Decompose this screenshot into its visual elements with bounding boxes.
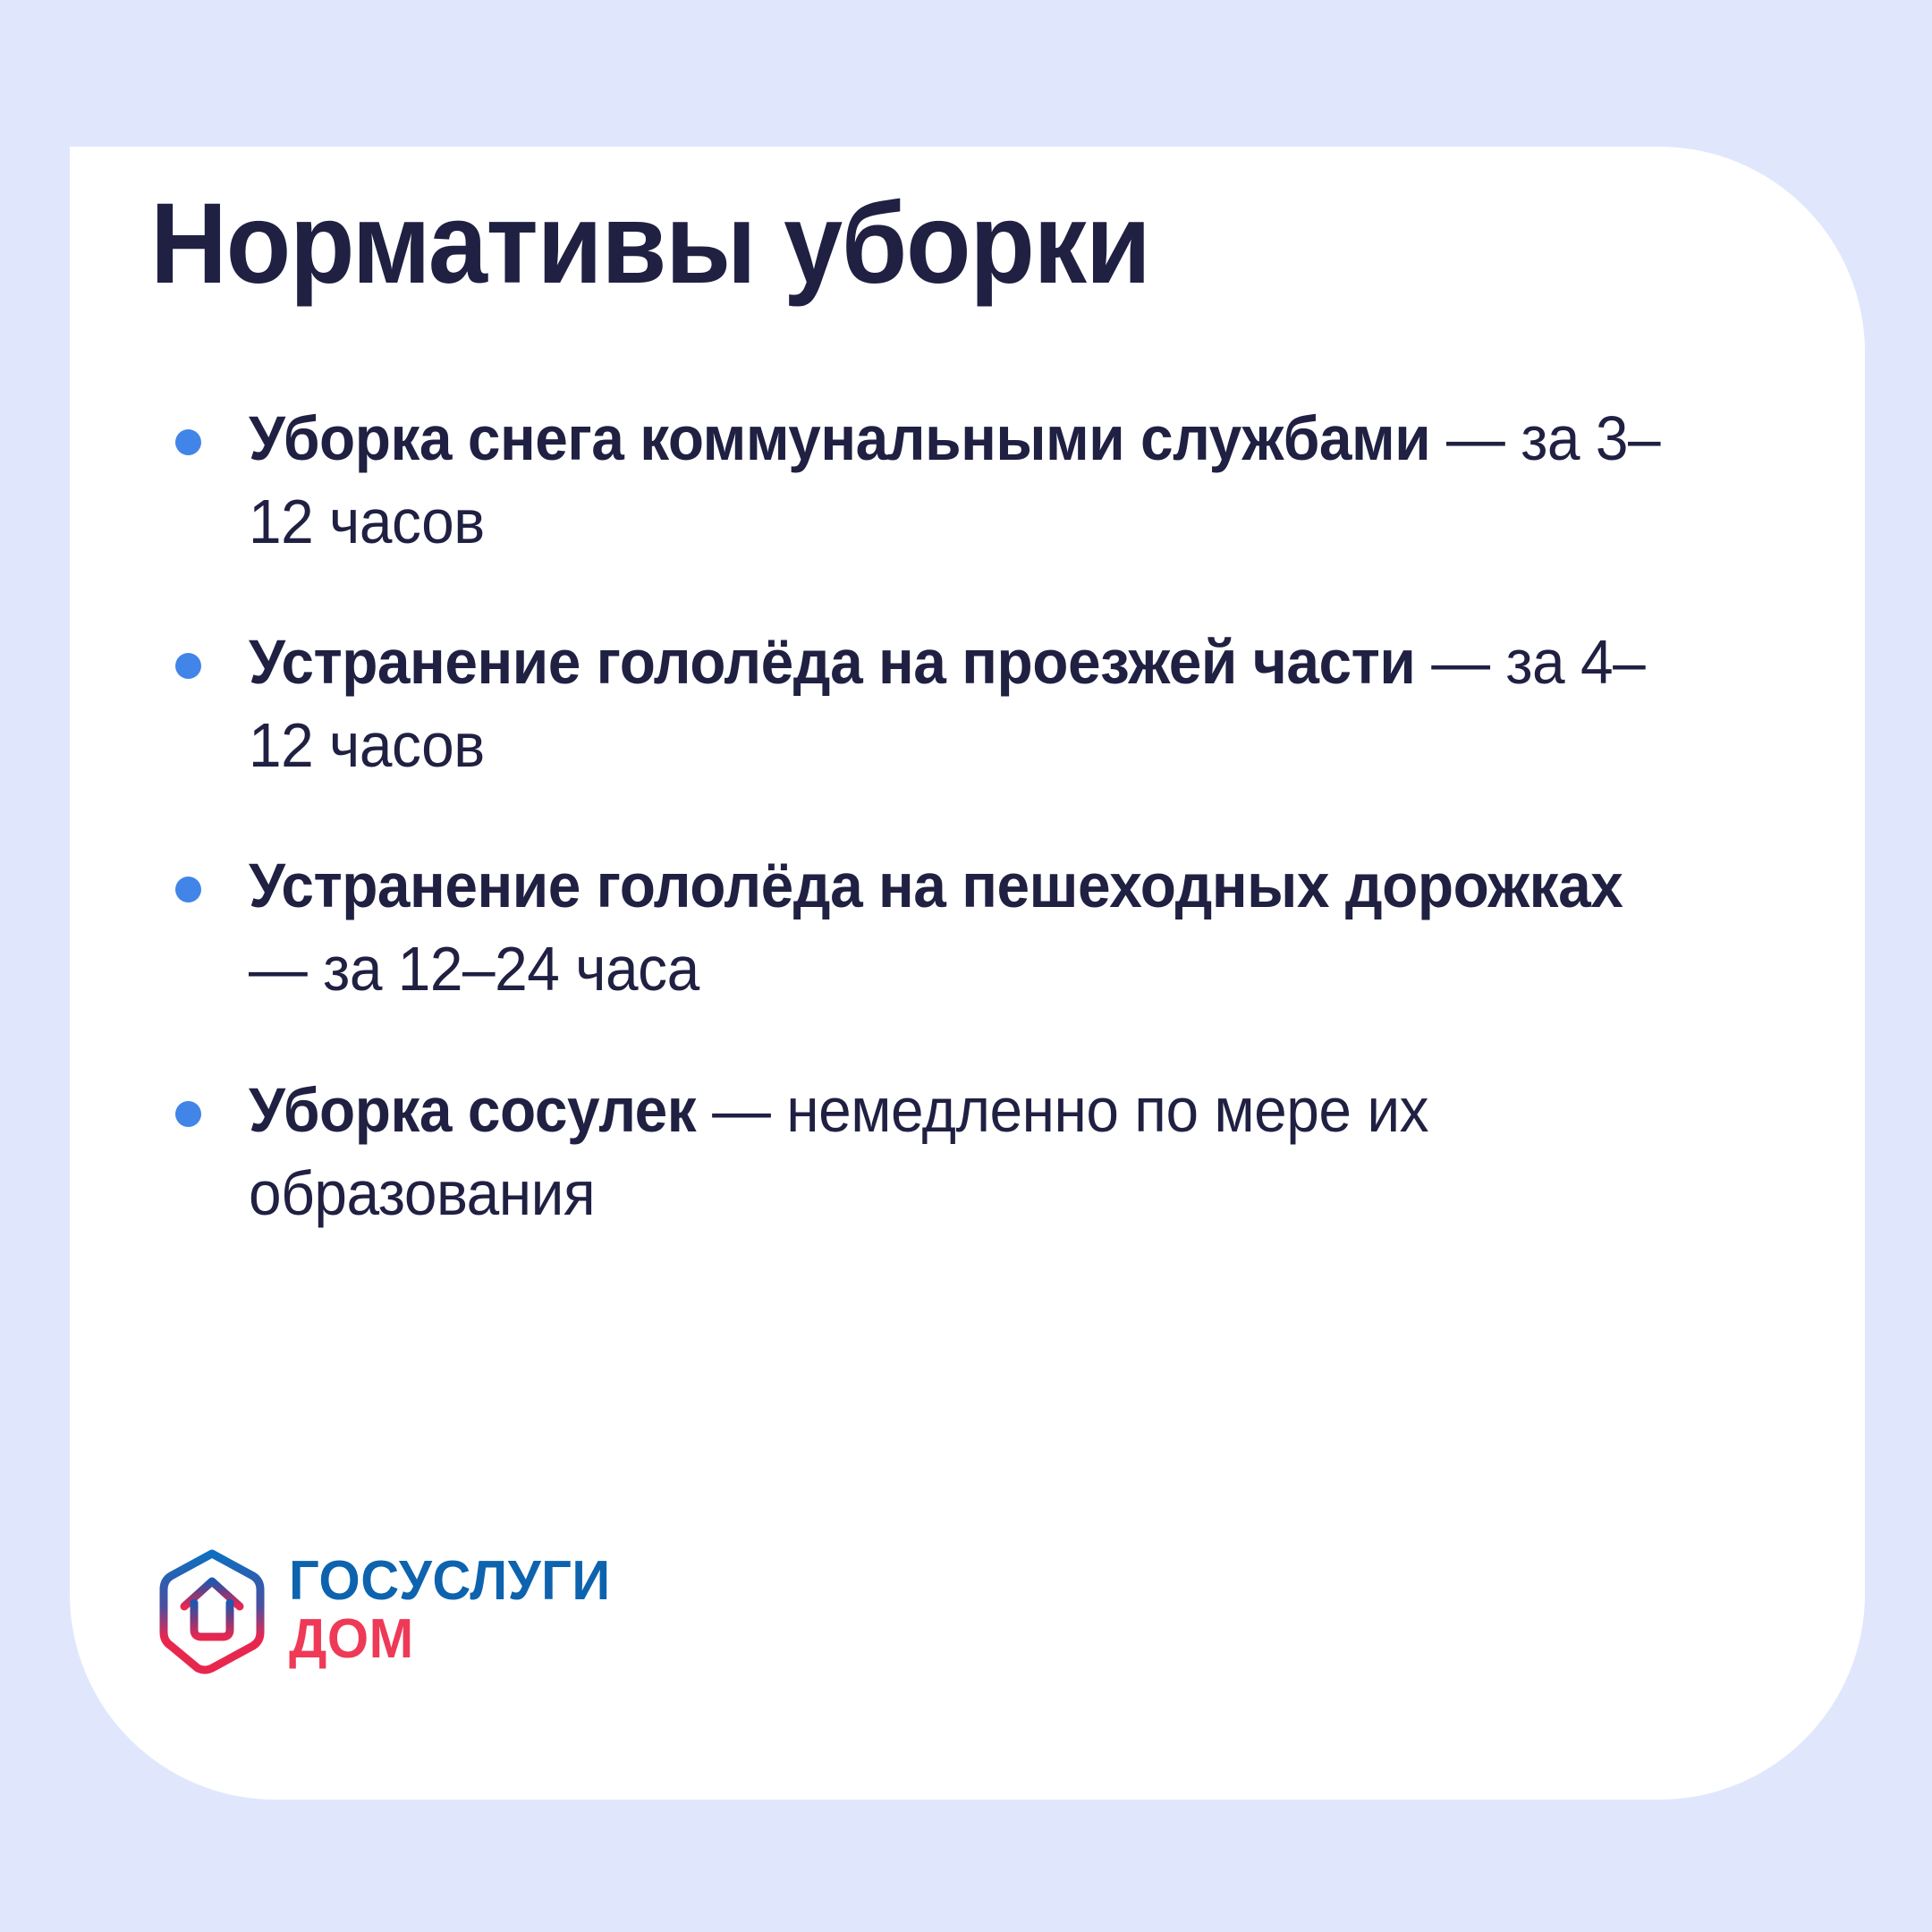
bullet-dot-icon — [175, 877, 201, 902]
list-item-lead: Устранение гололёда на проезжей части — [249, 627, 1415, 697]
poster-canvas: Нормативы уборки Уборка снега коммунальн… — [0, 0, 1932, 1932]
bullet-dot-icon — [175, 429, 201, 455]
list-item-text: Уборка сосулек — немедленно по мере их о… — [249, 1069, 1683, 1235]
brand-logo: ГОСУСЛУГИ ДОМ — [155, 1547, 624, 1674]
page-title: Нормативы уборки — [150, 187, 1150, 301]
list-item-rest: — за 12–24 часа — [249, 934, 699, 1004]
list-item: Устранение гололёда на проезжей части — … — [150, 621, 1689, 787]
list-item: Уборка сосулек — немедленно по мере их о… — [150, 1069, 1689, 1235]
logo-text-dom: ДОМ — [289, 1614, 611, 1666]
house-hexagon-icon — [155, 1547, 269, 1674]
bullet-dot-icon — [175, 653, 201, 679]
list-item-text: Устранение гололёда на пешеходных дорожк… — [249, 844, 1683, 1011]
list-item-lead: Уборка снега коммунальными службами — [249, 403, 1430, 473]
normatives-list: Уборка снега коммунальными службами — за… — [150, 397, 1689, 1235]
list-item: Устранение гололёда на пешеходных дорожк… — [150, 844, 1689, 1011]
list-item-lead: Устранение гололёда на пешеходных дорожк… — [249, 851, 1623, 920]
list-item: Уборка снега коммунальными службами — за… — [150, 397, 1689, 563]
logo-text-gosuslugi: ГОСУСЛУГИ — [289, 1555, 611, 1608]
content-card: Нормативы уборки Уборка снега коммунальн… — [70, 147, 1865, 1800]
list-item-text: Уборка снега коммунальными службами — за… — [249, 397, 1683, 563]
list-item-lead: Уборка сосулек — [249, 1075, 696, 1145]
bullet-dot-icon — [175, 1101, 201, 1127]
list-item-text: Устранение гололёда на проезжей части — … — [249, 621, 1683, 787]
logo-wordmark: ГОСУСЛУГИ ДОМ — [289, 1555, 624, 1666]
